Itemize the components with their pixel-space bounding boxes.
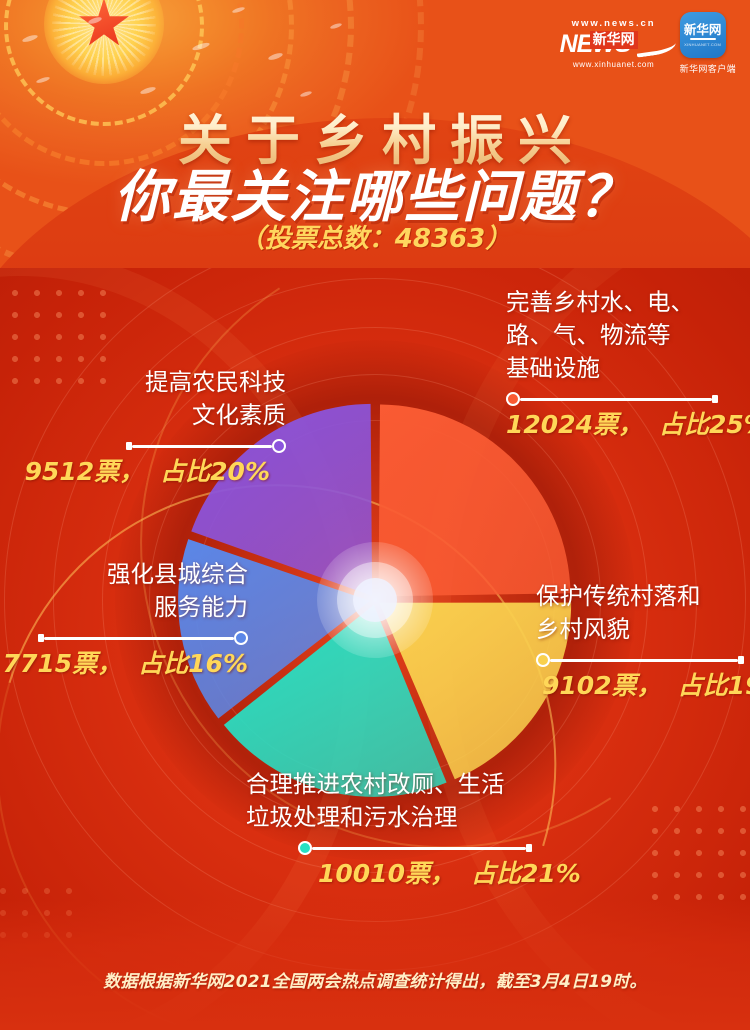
total-votes-subtitle: （投票总数：48363） [0,218,750,255]
callout-farmer-education[interactable]: 提高农民科技 文化素质 9512票，占比20% [0,366,286,488]
callout-value: 7715票，占比16% [0,648,248,680]
logo-chinese-text: 新华网 [590,31,638,49]
footer-gradient [0,900,750,1030]
callout-bar [312,847,526,850]
callout-county-services[interactable]: 强化县城综合 服务能力 7715票，占比16% [0,558,248,680]
callout-tick [712,395,718,403]
callout-connector [298,841,532,855]
xinhua-logo[interactable]: www.news.cn NEWS 新华网 www.xinhuanet.com [560,18,668,69]
infographic-poster: www.news.cn NEWS 新华网 www.xinhuanet.com 新… [0,0,750,1030]
callout-label: 保护传统村落和 乡村风貌 [536,580,750,646]
app-icon-label: 新华网 [684,23,722,36]
callout-value: 9512票，占比20% [0,456,270,488]
callout-connector [536,653,744,667]
callout-label: 强化县城综合 服务能力 [0,558,248,624]
callout-votes: 7715票， [3,649,123,678]
callout-percent: 占比25% [659,410,750,439]
callout-knob [506,392,520,406]
callout-traditional-villages[interactable]: 保护传统村落和 乡村风貌 9102票，占比19% [536,580,750,702]
app-icon[interactable]: 新华网 XINHUANET.COM [680,12,726,58]
callout-bar [132,445,272,448]
footer-note: 数据根据新华网2021全国两会热点调查统计得出，截至3月4日19时。 [0,967,750,992]
callout-bar [550,659,738,662]
logo-url-bottom: www.xinhuanet.com [560,60,668,69]
callout-knob [272,439,286,453]
callout-connector [126,439,286,453]
callout-percent: 占比19% [678,671,750,700]
callout-knob [298,841,312,855]
callout-connector [38,631,248,645]
app-icon-underline [690,38,716,40]
callout-knob [536,653,550,667]
callout-bar [520,398,712,401]
callout-value: 10010票，占比21% [318,858,666,890]
logo-url-top: www.news.cn [560,18,668,29]
callout-label: 合理推进农村改厕、生活 垃圾处理和污水治理 [246,768,666,834]
callout-knob [234,631,248,645]
brand-logos: www.news.cn NEWS 新华网 www.xinhuanet.com 新… [560,12,736,75]
callout-tick [526,844,532,852]
app-icon-sub: XINHUANET.COM [684,42,721,47]
callout-bar [44,637,234,640]
callout-value: 12024票，占比25% [506,409,750,441]
logo-wordmark: NEWS 新华网 [560,29,668,59]
app-caption: 新华网客户端 [680,62,736,75]
callout-votes: 9512票， [25,457,145,486]
callout-infrastructure[interactable]: 完善乡村水、电、 路、气、物流等 基础设施 12024票，占比25% [506,286,750,441]
callout-connector [506,392,718,406]
logo-swoosh-icon [635,36,677,57]
callout-percent: 占比20% [160,457,270,486]
callout-votes: 10010票， [318,859,455,888]
callout-percent: 占比16% [138,649,248,678]
callout-label: 完善乡村水、电、 路、气、物流等 基础设施 [506,286,750,385]
callout-percent: 占比21% [471,859,581,888]
callout-label: 提高农民科技 文化素质 [0,366,286,432]
callout-value: 9102票，占比19% [542,670,750,702]
callout-votes: 9102票， [542,671,662,700]
callout-toilets-waste[interactable]: 合理推进农村改厕、生活 垃圾处理和污水治理 10010票，占比21% [246,768,666,890]
callout-votes: 12024票， [506,410,643,439]
callout-tick [738,656,744,664]
